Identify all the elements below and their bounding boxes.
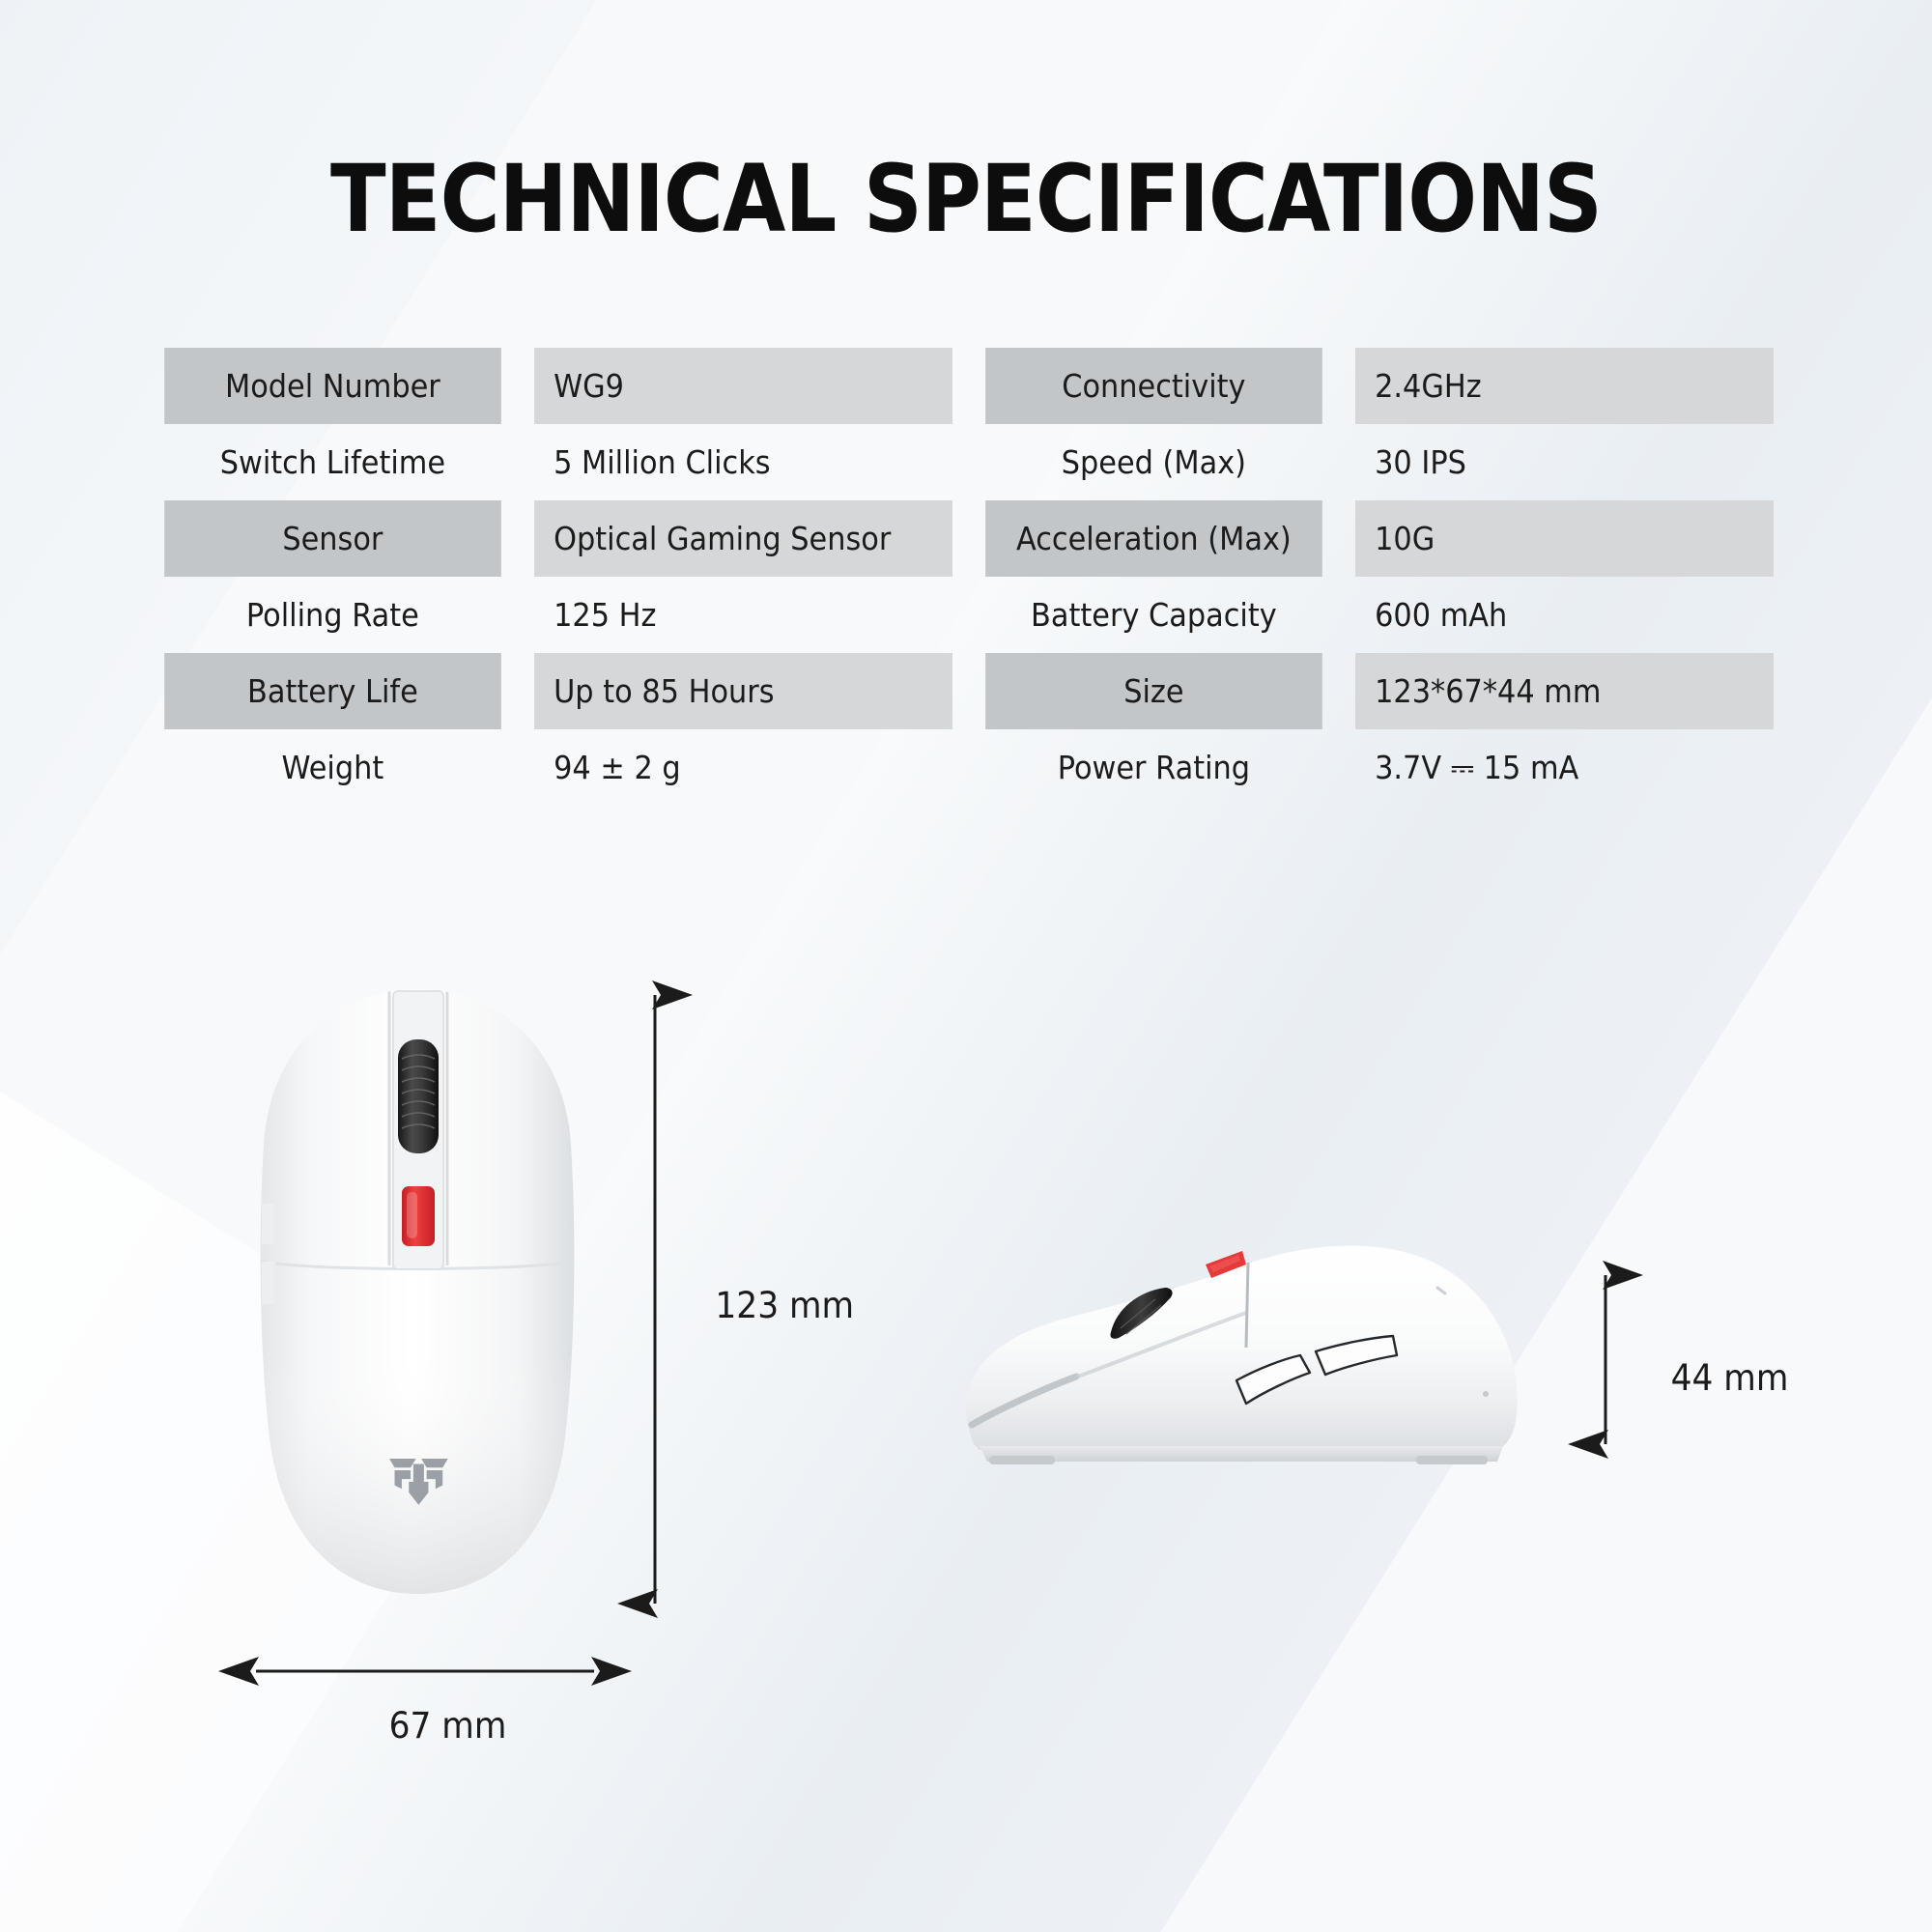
table-row: Switch Lifetime 5 Million Clicks Speed (… <box>150 424 1792 500</box>
spec-value: Up to 85 Hours <box>534 653 953 729</box>
spec-value: 123*67*44 mm <box>1355 653 1775 729</box>
spec-value: 600 mAh <box>1355 577 1775 653</box>
mouse-top-view <box>246 985 589 1599</box>
spec-label: Battery Capacity <box>985 577 1321 653</box>
spec-value: 10G <box>1355 500 1775 577</box>
mouse-side-view <box>956 1232 1546 1473</box>
spec-value: 3.7V ⎓ 15 mA <box>1355 729 1775 806</box>
height-dimension-label: 123 mm <box>715 1285 854 1326</box>
table-row: Weight 94 ± 2 g Power Rating 3.7V ⎓ 15 m… <box>150 729 1792 806</box>
spec-value: 30 IPS <box>1355 424 1775 500</box>
spec-label: Acceleration (Max) <box>985 500 1321 577</box>
spec-label: Power Rating <box>985 729 1321 806</box>
table-row: Model Number WG9 Connectivity 2.4GHz <box>150 348 1792 424</box>
background-band-left <box>0 0 481 1932</box>
table-row: Polling Rate 125 Hz Battery Capacity 600… <box>150 577 1792 653</box>
spec-value: 125 Hz <box>534 577 953 653</box>
spec-value: Optical Gaming Sensor <box>534 500 953 577</box>
background-band-right <box>0 0 1932 1932</box>
spec-value: WG9 <box>534 348 953 424</box>
width-dimension-label: 67 mm <box>389 1705 507 1747</box>
dimension-lines <box>0 0 1932 1932</box>
spec-value: 94 ± 2 g <box>534 729 953 806</box>
spec-label: Weight <box>164 729 500 806</box>
spec-label: Model Number <box>164 348 500 424</box>
spec-value: 5 Million Clicks <box>534 424 953 500</box>
spec-value: 2.4GHz <box>1355 348 1775 424</box>
spec-label: Speed (Max) <box>985 424 1321 500</box>
dpi-button[interactable] <box>402 1186 435 1246</box>
background-band-mid <box>0 0 961 1932</box>
spec-label: Sensor <box>164 500 500 577</box>
spec-label: Battery Life <box>164 653 500 729</box>
side-height-dimension-label: 44 mm <box>1671 1357 1789 1399</box>
spec-sheet-page: TECHNICAL SPECIFICATIONS Model Number WG… <box>0 0 1932 1932</box>
scroll-wheel-icon <box>398 1039 439 1153</box>
specifications-table: Model Number WG9 Connectivity 2.4GHz Swi… <box>150 348 1792 806</box>
mouse-side-body <box>966 1246 1518 1464</box>
spec-label: Polling Rate <box>164 577 500 653</box>
spec-label: Switch Lifetime <box>164 424 500 500</box>
table-row: Sensor Optical Gaming Sensor Acceleratio… <box>150 500 1792 577</box>
table-row: Battery Life Up to 85 Hours Size 123*67*… <box>150 653 1792 729</box>
spec-label: Connectivity <box>985 348 1321 424</box>
spec-label: Size <box>985 653 1321 729</box>
page-title: TECHNICAL SPECIFICATIONS <box>116 145 1816 253</box>
